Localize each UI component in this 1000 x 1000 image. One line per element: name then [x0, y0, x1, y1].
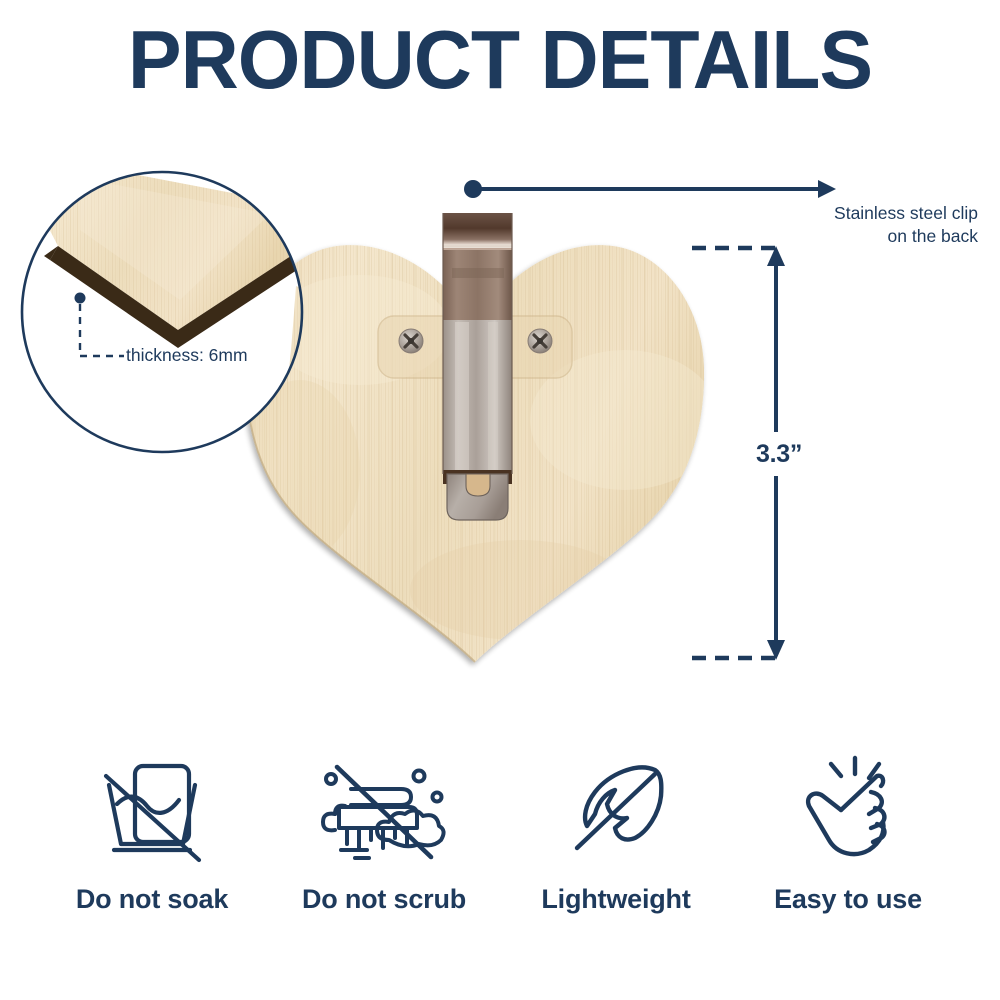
feature-lightweight: Lightweight — [502, 752, 730, 915]
product-details-infographic: PRODUCT DETAILS — [0, 0, 1000, 1000]
feature-do-not-soak: Do not soak — [38, 752, 266, 915]
callout-origin-dot — [464, 180, 482, 198]
tap-hand-icon — [783, 752, 913, 870]
feature-easy-to-use: Easy to use — [734, 752, 962, 915]
screw-right — [528, 329, 552, 353]
callout-arrowhead — [818, 180, 836, 198]
no-soak-icon — [87, 752, 217, 870]
clip-callout-label: Stainless steel clip on the back — [678, 202, 978, 248]
feather-icon — [551, 752, 681, 870]
feature-do-not-scrub: Do not scrub — [270, 752, 498, 915]
clip-callout-line-2: on the back — [678, 225, 978, 248]
clip-callout-arrow — [464, 180, 836, 198]
feature-label-do-not-scrub: Do not scrub — [302, 884, 466, 915]
feature-row: Do not soak — [0, 752, 1000, 915]
height-dimension-label: 3.3” — [756, 440, 802, 469]
thickness-label: thickness: 6mm — [126, 345, 248, 366]
stainless-steel-clip — [443, 213, 512, 520]
feature-label-do-not-soak: Do not soak — [76, 884, 228, 915]
feature-label-easy-to-use: Easy to use — [774, 884, 922, 915]
no-scrub-icon — [305, 752, 463, 870]
feature-label-lightweight: Lightweight — [541, 884, 690, 915]
thickness-leader-dot — [75, 293, 86, 304]
screw-left — [399, 329, 423, 353]
clip-callout-line-1: Stainless steel clip — [678, 202, 978, 225]
